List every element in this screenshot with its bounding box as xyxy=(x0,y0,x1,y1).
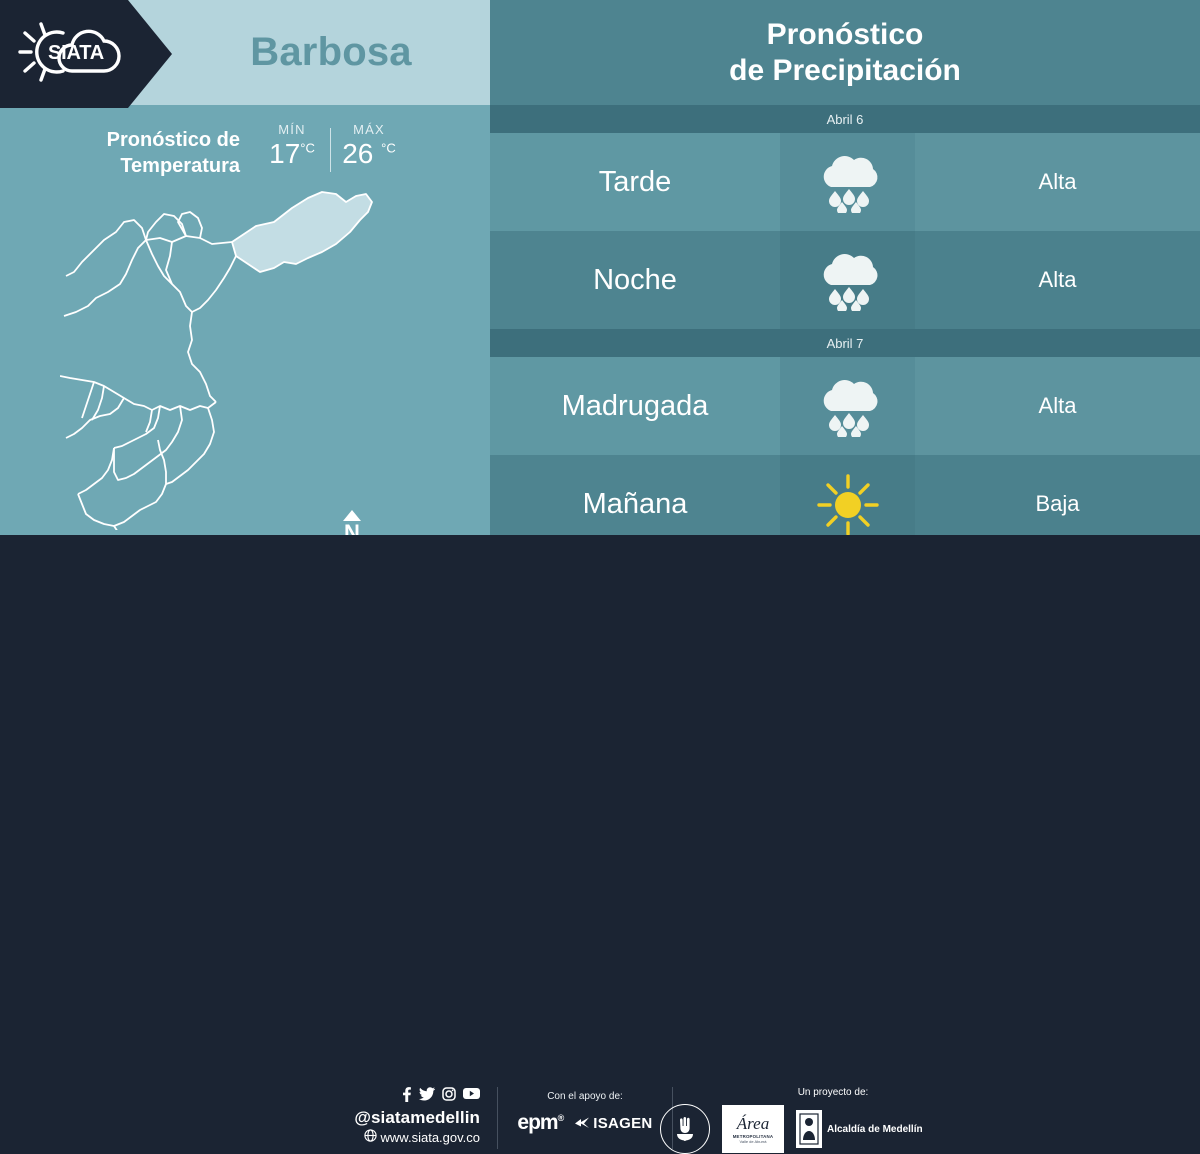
period-label: Noche xyxy=(490,231,780,329)
area-metropolitana-logo: Área METROPOLITANA Valle de Aburrá xyxy=(722,1105,784,1153)
website-line[interactable]: www.siata.gov.co xyxy=(330,1129,480,1145)
twitter-icon[interactable] xyxy=(419,1087,435,1107)
isagen-mark xyxy=(575,1117,590,1130)
max-label: MÁX xyxy=(333,122,405,137)
globe-icon xyxy=(364,1129,377,1145)
alcaldia-crest-icon xyxy=(796,1110,822,1148)
min-value-wrap: 17°C xyxy=(256,139,328,168)
svg-text:SIATA: SIATA xyxy=(48,42,104,64)
social-block: @siatamedellin www.siata.gov.co xyxy=(330,1087,480,1145)
temperature-title-line2: Temperatura xyxy=(60,154,240,180)
sun-cloud-icon: SIATA xyxy=(14,19,122,90)
date-band: Abril 7 xyxy=(490,329,1200,357)
min-label: MÍN xyxy=(256,122,328,137)
max-value: 26 xyxy=(342,138,373,169)
project-logos: Área METROPOLITANA Valle de Aburrá Alcal… xyxy=(660,1104,950,1154)
social-icons xyxy=(330,1087,480,1107)
alcaldia-logo: Alcaldía de Medellín xyxy=(796,1110,923,1148)
precipitation-title: Pronóstico de Precipitación xyxy=(490,0,1200,105)
min-value: 17 xyxy=(269,138,300,169)
isagen-wordmark: ISAGEN xyxy=(593,1115,652,1132)
project-block: Un proyecto de: Área METROPOLITANA Valle… xyxy=(660,1087,950,1154)
forecast-row: Tarde Alta xyxy=(490,133,1200,231)
temperature-min: MÍN 17°C xyxy=(256,122,328,176)
youtube-icon[interactable] xyxy=(463,1087,480,1107)
municipality-barbosa-highlight xyxy=(232,192,372,272)
support-block: Con el apoyo de: epm® ISAGEN xyxy=(500,1091,670,1135)
temperature-block: Pronóstico de Temperatura MÍN 17°C MÁX 2… xyxy=(60,122,420,179)
footer-divider-1 xyxy=(497,1087,498,1149)
max-value-wrap: 26 °C xyxy=(333,139,405,168)
forecast-row: Noche Alta xyxy=(490,231,1200,329)
left-panel: SIATA Barbosa Pronóstico de Temperatura … xyxy=(0,0,490,535)
temperature-max: MÁX 26 °C xyxy=(333,122,405,176)
website-url: www.siata.gov.co xyxy=(381,1130,480,1145)
period-label: Tarde xyxy=(490,133,780,231)
aburra-valley-map: N xyxy=(60,180,460,530)
rain-cloud-icon xyxy=(780,357,915,455)
period-label: Madrugada xyxy=(490,357,780,455)
probability-value: Alta xyxy=(915,357,1200,455)
city-name: Barbosa xyxy=(172,0,490,105)
area-script: Área xyxy=(737,1115,769,1132)
probability-value: Alta xyxy=(915,231,1200,329)
support-brands: epm® ISAGEN xyxy=(500,1111,670,1135)
map-svg xyxy=(60,180,460,530)
epm-wordmark: epm xyxy=(517,1111,557,1134)
max-unit: °C xyxy=(381,141,396,156)
support-caption: Con el apoyo de: xyxy=(500,1091,670,1102)
university-seal-icon xyxy=(660,1104,710,1154)
temperature-values: MÍN 17°C MÁX 26 °C xyxy=(256,122,405,176)
facebook-icon[interactable] xyxy=(401,1087,412,1107)
probability-value: Alta xyxy=(915,133,1200,231)
temperature-divider xyxy=(330,128,331,172)
temperature-title: Pronóstico de Temperatura xyxy=(60,122,240,179)
date-band: Abril 6 xyxy=(490,105,1200,133)
area-sub2: Valle de Aburrá xyxy=(739,1139,766,1144)
min-unit: °C xyxy=(300,141,315,156)
precipitation-title-line1: Pronóstico xyxy=(767,17,924,53)
precipitation-title-line2: de Precipitación xyxy=(729,53,961,89)
epm-logo: epm® xyxy=(517,1111,563,1135)
footer: @siatamedellin www.siata.gov.co Con el a… xyxy=(0,535,1200,630)
rain-cloud-icon xyxy=(780,133,915,231)
temperature-title-line1: Pronóstico de xyxy=(60,128,240,154)
project-caption: Un proyecto de: xyxy=(718,1087,948,1098)
isagen-logo: ISAGEN xyxy=(575,1115,652,1132)
weather-forecast-card: SIATA Barbosa Pronóstico de Temperatura … xyxy=(0,0,1200,630)
alcaldia-label: Alcaldía de Medellín xyxy=(827,1124,923,1135)
precipitation-panel: Pronóstico de Precipitación Abril 6 Tard… xyxy=(490,0,1200,535)
instagram-icon[interactable] xyxy=(442,1087,456,1107)
social-handle[interactable]: @siatamedellin xyxy=(330,1108,480,1128)
forecast-row: Madrugada Alta xyxy=(490,357,1200,455)
rain-cloud-icon xyxy=(780,231,915,329)
